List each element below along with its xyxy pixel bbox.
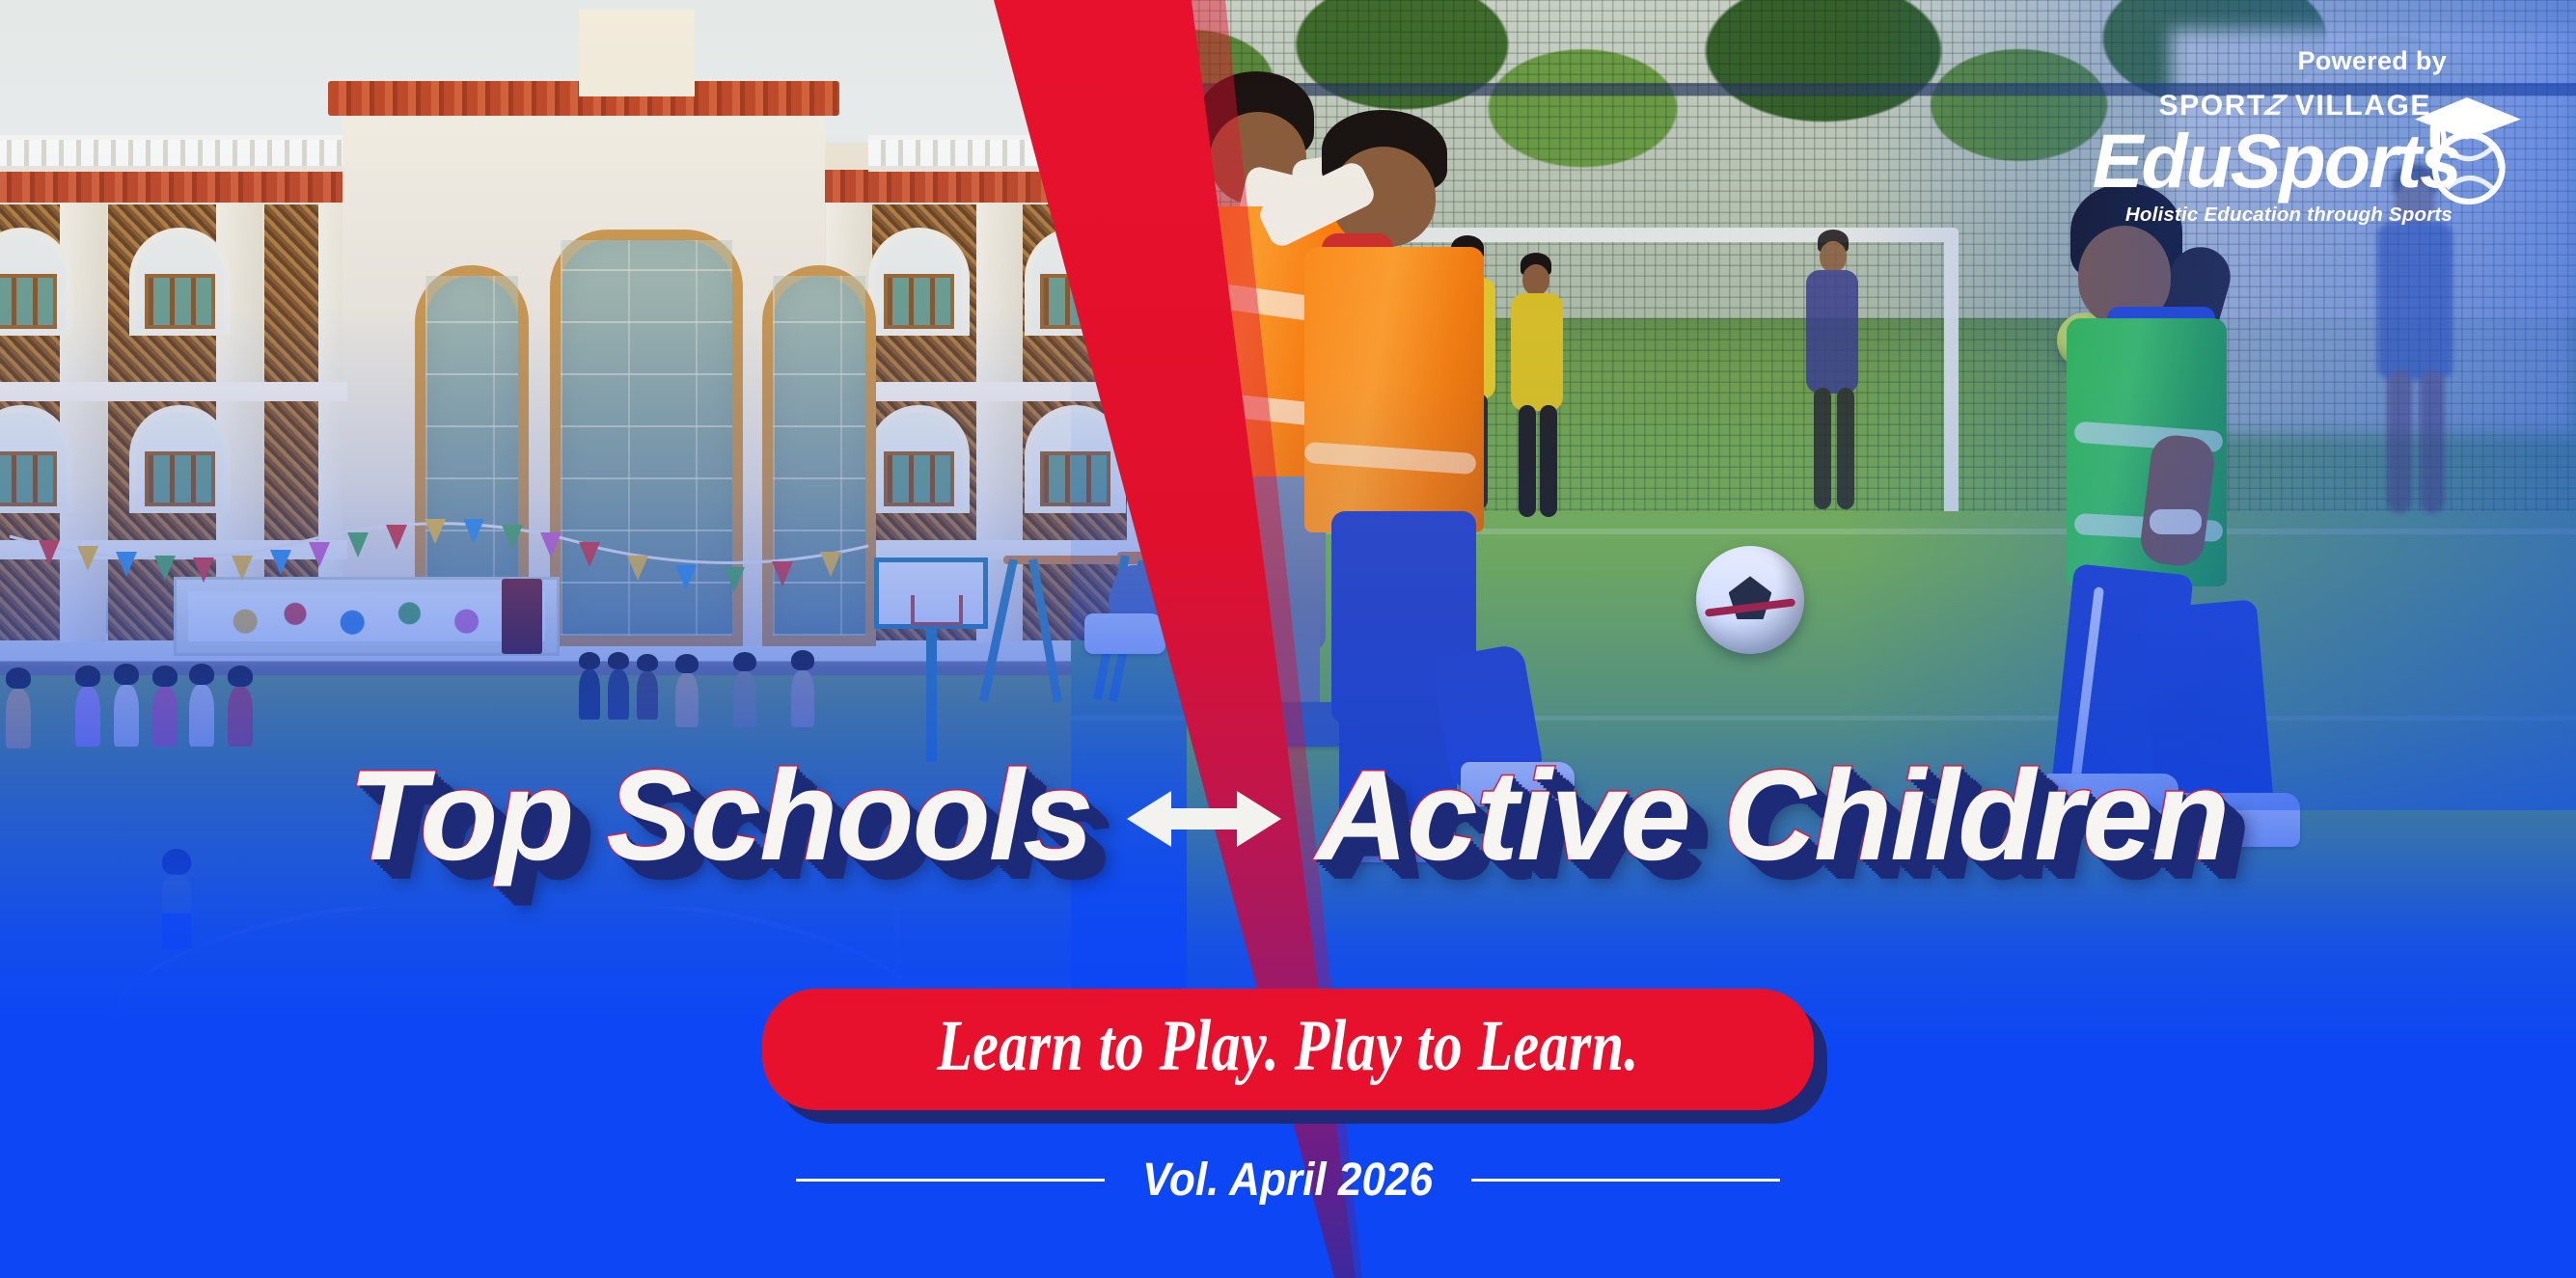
edusports-wordmark: EduSports [2093, 126, 2460, 197]
arched-window [129, 405, 231, 513]
headline-left: Top Schools [348, 752, 1092, 881]
spectator [675, 654, 699, 727]
child-player-green [2022, 183, 2302, 839]
facade-band [0, 382, 347, 401]
football [1696, 546, 1804, 654]
spectator [189, 664, 214, 747]
corner-tower [579, 10, 695, 96]
balustrade-right [868, 135, 1177, 172]
headline-row: Top Schools Active Children [0, 752, 2576, 881]
spectator [637, 654, 658, 720]
spectator [579, 652, 600, 720]
background-player [1804, 230, 1862, 519]
spectator [228, 666, 253, 747]
spectator [608, 652, 629, 720]
tagline-text: Learn to Play. Play to Learn. [924, 1008, 1652, 1085]
arched-window [129, 228, 231, 336]
tall-arched-window [762, 265, 876, 646]
basketball-backboard [874, 557, 988, 629]
arched-window [1025, 228, 1126, 336]
podium [502, 579, 542, 654]
edusports-logo[interactable]: Powered by SPORTZ VILLAGE EduSports Holi… [2093, 46, 2520, 227]
rule-right [1471, 1179, 1780, 1182]
child-player-orange-front [1272, 110, 1561, 727]
stage-backdrop [188, 591, 545, 641]
spectator [791, 650, 814, 727]
spectator [75, 666, 100, 747]
spectator [152, 666, 178, 747]
tall-arched-window [550, 230, 743, 646]
spectator [733, 652, 756, 727]
newsletter-banner: Powered by SPORTZ VILLAGE EduSports Holi… [0, 0, 2576, 1278]
double-arrow-icon [1127, 783, 1281, 855]
rule-left [796, 1179, 1105, 1182]
logo-tagline: Holistic Education through Sports [2093, 204, 2453, 227]
balustrade-left [0, 135, 347, 172]
powered-by-label: Powered by [2093, 46, 2447, 76]
arched-window [868, 228, 970, 336]
tagline-pill-wrap: Learn to Play. Play to Learn. [0, 989, 2576, 1110]
arched-window [868, 405, 970, 513]
volume-label: Vol. April 2026 [1142, 1154, 1433, 1207]
arched-window [1025, 405, 1126, 513]
tagline-pill: Learn to Play. Play to Learn. [762, 989, 1814, 1110]
facade-band [0, 540, 347, 559]
spectator [114, 664, 139, 747]
volume-row: Vol. April 2026 [0, 1154, 2576, 1207]
graduation-cap-ball-icon [2408, 91, 2526, 208]
spectator [6, 667, 31, 748]
headline-right: Active Children [1316, 752, 2229, 881]
